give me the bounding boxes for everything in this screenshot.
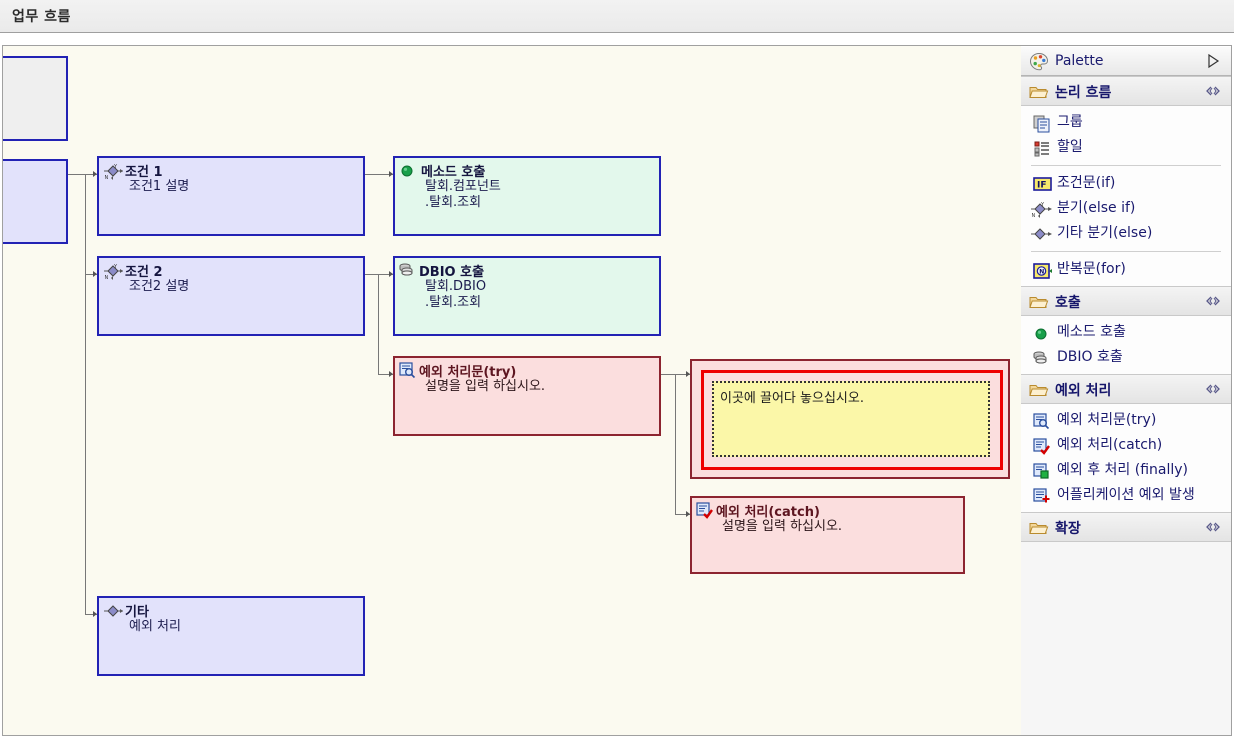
node-title: 메소드 호출	[421, 161, 485, 180]
method-call-icon	[1035, 327, 1053, 345]
palette-title: Palette	[1055, 53, 1104, 69]
palette-item-label: 그룹	[1057, 114, 1083, 130]
drop-target-label: 이곳에 끌어다 놓으십시오.	[720, 387, 864, 406]
palette-drawer-call[interactable]: 호출	[1021, 286, 1231, 316]
drop-target-placeholder[interactable]: 이곳에 끌어다 놓으십시오.	[712, 381, 990, 457]
palette-drawer-logic-flow-body: 그룹 할일	[1021, 106, 1231, 286]
connector-root-to-trunk	[68, 174, 86, 175]
drawer-title: 확장	[1055, 518, 1081, 538]
node-try[interactable]: 예외 처리문(try) 설명을 입력 하십시오.	[393, 356, 661, 436]
palette-item-label: 반복문(for)	[1057, 261, 1126, 277]
palette-item-label: 예외 후 처리 (finally)	[1057, 462, 1188, 478]
svg-text:Y: Y	[1040, 202, 1045, 208]
node-description: 조건1 설명	[129, 179, 189, 195]
palette-item-try[interactable]: 예외 처리문(try)	[1021, 408, 1231, 433]
finally-icon	[1033, 463, 1051, 481]
svg-text:N: N	[105, 275, 109, 281]
palette-item-finally[interactable]: 예외 후 처리 (finally)	[1021, 458, 1231, 483]
collapse-icon[interactable]	[1205, 295, 1221, 307]
palette-drawer-extension[interactable]: 확장	[1021, 512, 1231, 542]
palette-item-label: 메소드 호출	[1057, 324, 1126, 340]
else-icon	[104, 603, 121, 619]
method-call-icon	[400, 163, 417, 179]
drawer-title: 논리 흐름	[1055, 82, 1111, 102]
node-description: 조건2 설명	[129, 279, 189, 295]
palette-item-label: 기타 분기(else)	[1057, 225, 1152, 241]
node-description: 탈회.컴포넌트 .탈회.조회	[425, 179, 501, 211]
group-icon	[1033, 115, 1051, 133]
node-description: 예외 처리	[129, 619, 181, 635]
collapse-icon[interactable]	[1205, 85, 1221, 97]
node-condition-2[interactable]: Y N 조건 2 조건2 설명	[97, 256, 365, 336]
svg-text:IF: IF	[1037, 181, 1047, 191]
folder-open-icon	[1029, 382, 1049, 398]
node-description: 설명을 입력 하십시오.	[425, 379, 545, 395]
palette-header[interactable]: Palette	[1021, 46, 1231, 76]
drawer-title: 호출	[1055, 292, 1081, 312]
folder-open-icon	[1029, 294, 1049, 310]
else-icon	[1031, 226, 1049, 244]
folder-open-icon	[1029, 520, 1049, 536]
palette-separator	[1031, 251, 1221, 252]
node-method-call[interactable]: 메소드 호출 탈회.컴포넌트 .탈회.조회	[393, 156, 661, 236]
offscreen-node-top[interactable]	[3, 56, 68, 141]
elseif-icon: Y N	[104, 163, 121, 179]
palette-item-label: 분기(else if)	[1057, 200, 1135, 216]
palette-item-catch[interactable]: 예외 처리(catch)	[1021, 433, 1231, 458]
node-description: 설명을 입력 하십시오.	[722, 519, 842, 535]
connector-try-branch	[675, 374, 676, 514]
if-icon: IF	[1033, 176, 1051, 194]
palette-separator	[1031, 165, 1221, 166]
connector-trunk-vertical	[85, 174, 86, 614]
palette-item-task[interactable]: 할일	[1021, 135, 1231, 160]
palette-icon	[1029, 52, 1049, 72]
node-title: DBIO 호출	[419, 261, 484, 280]
palette-item-label: DBIO 호출	[1057, 349, 1123, 365]
page-title: 업무 흐름	[12, 6, 71, 26]
palette-item-label: 조건문(if)	[1057, 175, 1115, 191]
selection-highlight[interactable]: 이곳에 끌어다 놓으십시오.	[701, 370, 1003, 470]
node-title: 조건 2	[125, 261, 163, 280]
folder-open-icon	[1029, 84, 1049, 100]
palette-drawer-exception-body: 예외 처리문(try) 예외 처리(catch)	[1021, 404, 1231, 512]
offscreen-node-root[interactable]	[3, 159, 68, 244]
node-title: 예외 처리문(try)	[419, 361, 516, 380]
palette-item-label: 예외 처리(catch)	[1057, 437, 1162, 453]
svg-text:N: N	[105, 175, 109, 181]
node-dbio-call[interactable]: DBIO 호출 탈회.DBIO .탈회.조회	[393, 256, 661, 336]
palette-item-label: 할일	[1057, 139, 1083, 155]
node-description: 탈회.DBIO .탈회.조회	[425, 279, 486, 311]
palette-drawer-call-body: 메소드 호출 DBIO 호출	[1021, 316, 1231, 374]
palette-item-for[interactable]: N 반복문(for)	[1021, 257, 1231, 282]
svg-text:Y: Y	[113, 264, 118, 270]
elseif-icon: Y N	[1031, 201, 1049, 219]
for-icon: N	[1033, 262, 1051, 280]
try-body-container[interactable]: 이곳에 끌어다 놓으십시오.	[690, 359, 1010, 479]
node-title: 기타	[125, 601, 149, 620]
collapse-icon[interactable]	[1205, 383, 1221, 395]
node-condition-1[interactable]: Y N 조건 1 조건1 설명	[97, 156, 365, 236]
node-catch[interactable]: 예외 처리(catch) 설명을 입력 하십시오.	[690, 496, 965, 574]
dbio-icon	[1032, 350, 1050, 368]
svg-text:N: N	[1032, 213, 1036, 219]
palette-item-else-if[interactable]: Y N 분기(else if)	[1021, 196, 1231, 221]
task-icon	[1033, 140, 1051, 158]
palette-item-group[interactable]: 그룹	[1021, 110, 1231, 135]
node-else[interactable]: 기타 예외 처리	[97, 596, 365, 676]
connector-condition2-branch	[378, 274, 379, 374]
palette-item-if[interactable]: IF 조건문(if)	[1021, 171, 1231, 196]
flow-editor: Y N 조건 1 조건1 설명 Y N 조건	[2, 45, 1232, 736]
node-title: 예외 처리(catch)	[716, 501, 820, 520]
catch-icon	[696, 502, 713, 518]
collapse-icon[interactable]	[1205, 521, 1221, 533]
palette-item-method-call[interactable]: 메소드 호출	[1021, 320, 1231, 345]
triangle-right-icon[interactable]	[1207, 54, 1219, 68]
throw-icon	[1033, 488, 1051, 506]
palette-item-label: 예외 처리문(try)	[1057, 412, 1156, 428]
window-title-bar: 업무 흐름	[0, 0, 1234, 33]
try-icon	[399, 362, 416, 378]
palette-item-else[interactable]: 기타 분기(else)	[1021, 221, 1231, 246]
elseif-icon: Y N	[104, 263, 121, 279]
svg-text:Y: Y	[113, 164, 118, 170]
palette-drawer-logic-flow[interactable]: 논리 흐름	[1021, 76, 1231, 106]
palette-drawer-exception[interactable]: 예외 처리	[1021, 374, 1231, 404]
drawer-title: 예외 처리	[1055, 380, 1111, 400]
flow-canvas[interactable]: Y N 조건 1 조건1 설명 Y N 조건	[3, 46, 1022, 735]
palette-item-dbio-call[interactable]: DBIO 호출	[1021, 345, 1231, 370]
catch-icon	[1033, 438, 1051, 456]
palette-item-label: 어플리케이션 예외 발생	[1057, 487, 1195, 503]
dbio-icon	[398, 262, 415, 278]
palette-item-throw[interactable]: 어플리케이션 예외 발생	[1021, 483, 1231, 508]
palette-panel: Palette 논리 흐름	[1021, 46, 1231, 735]
svg-text:N: N	[1039, 269, 1044, 276]
try-icon	[1033, 413, 1051, 431]
node-title: 조건 1	[125, 161, 163, 180]
